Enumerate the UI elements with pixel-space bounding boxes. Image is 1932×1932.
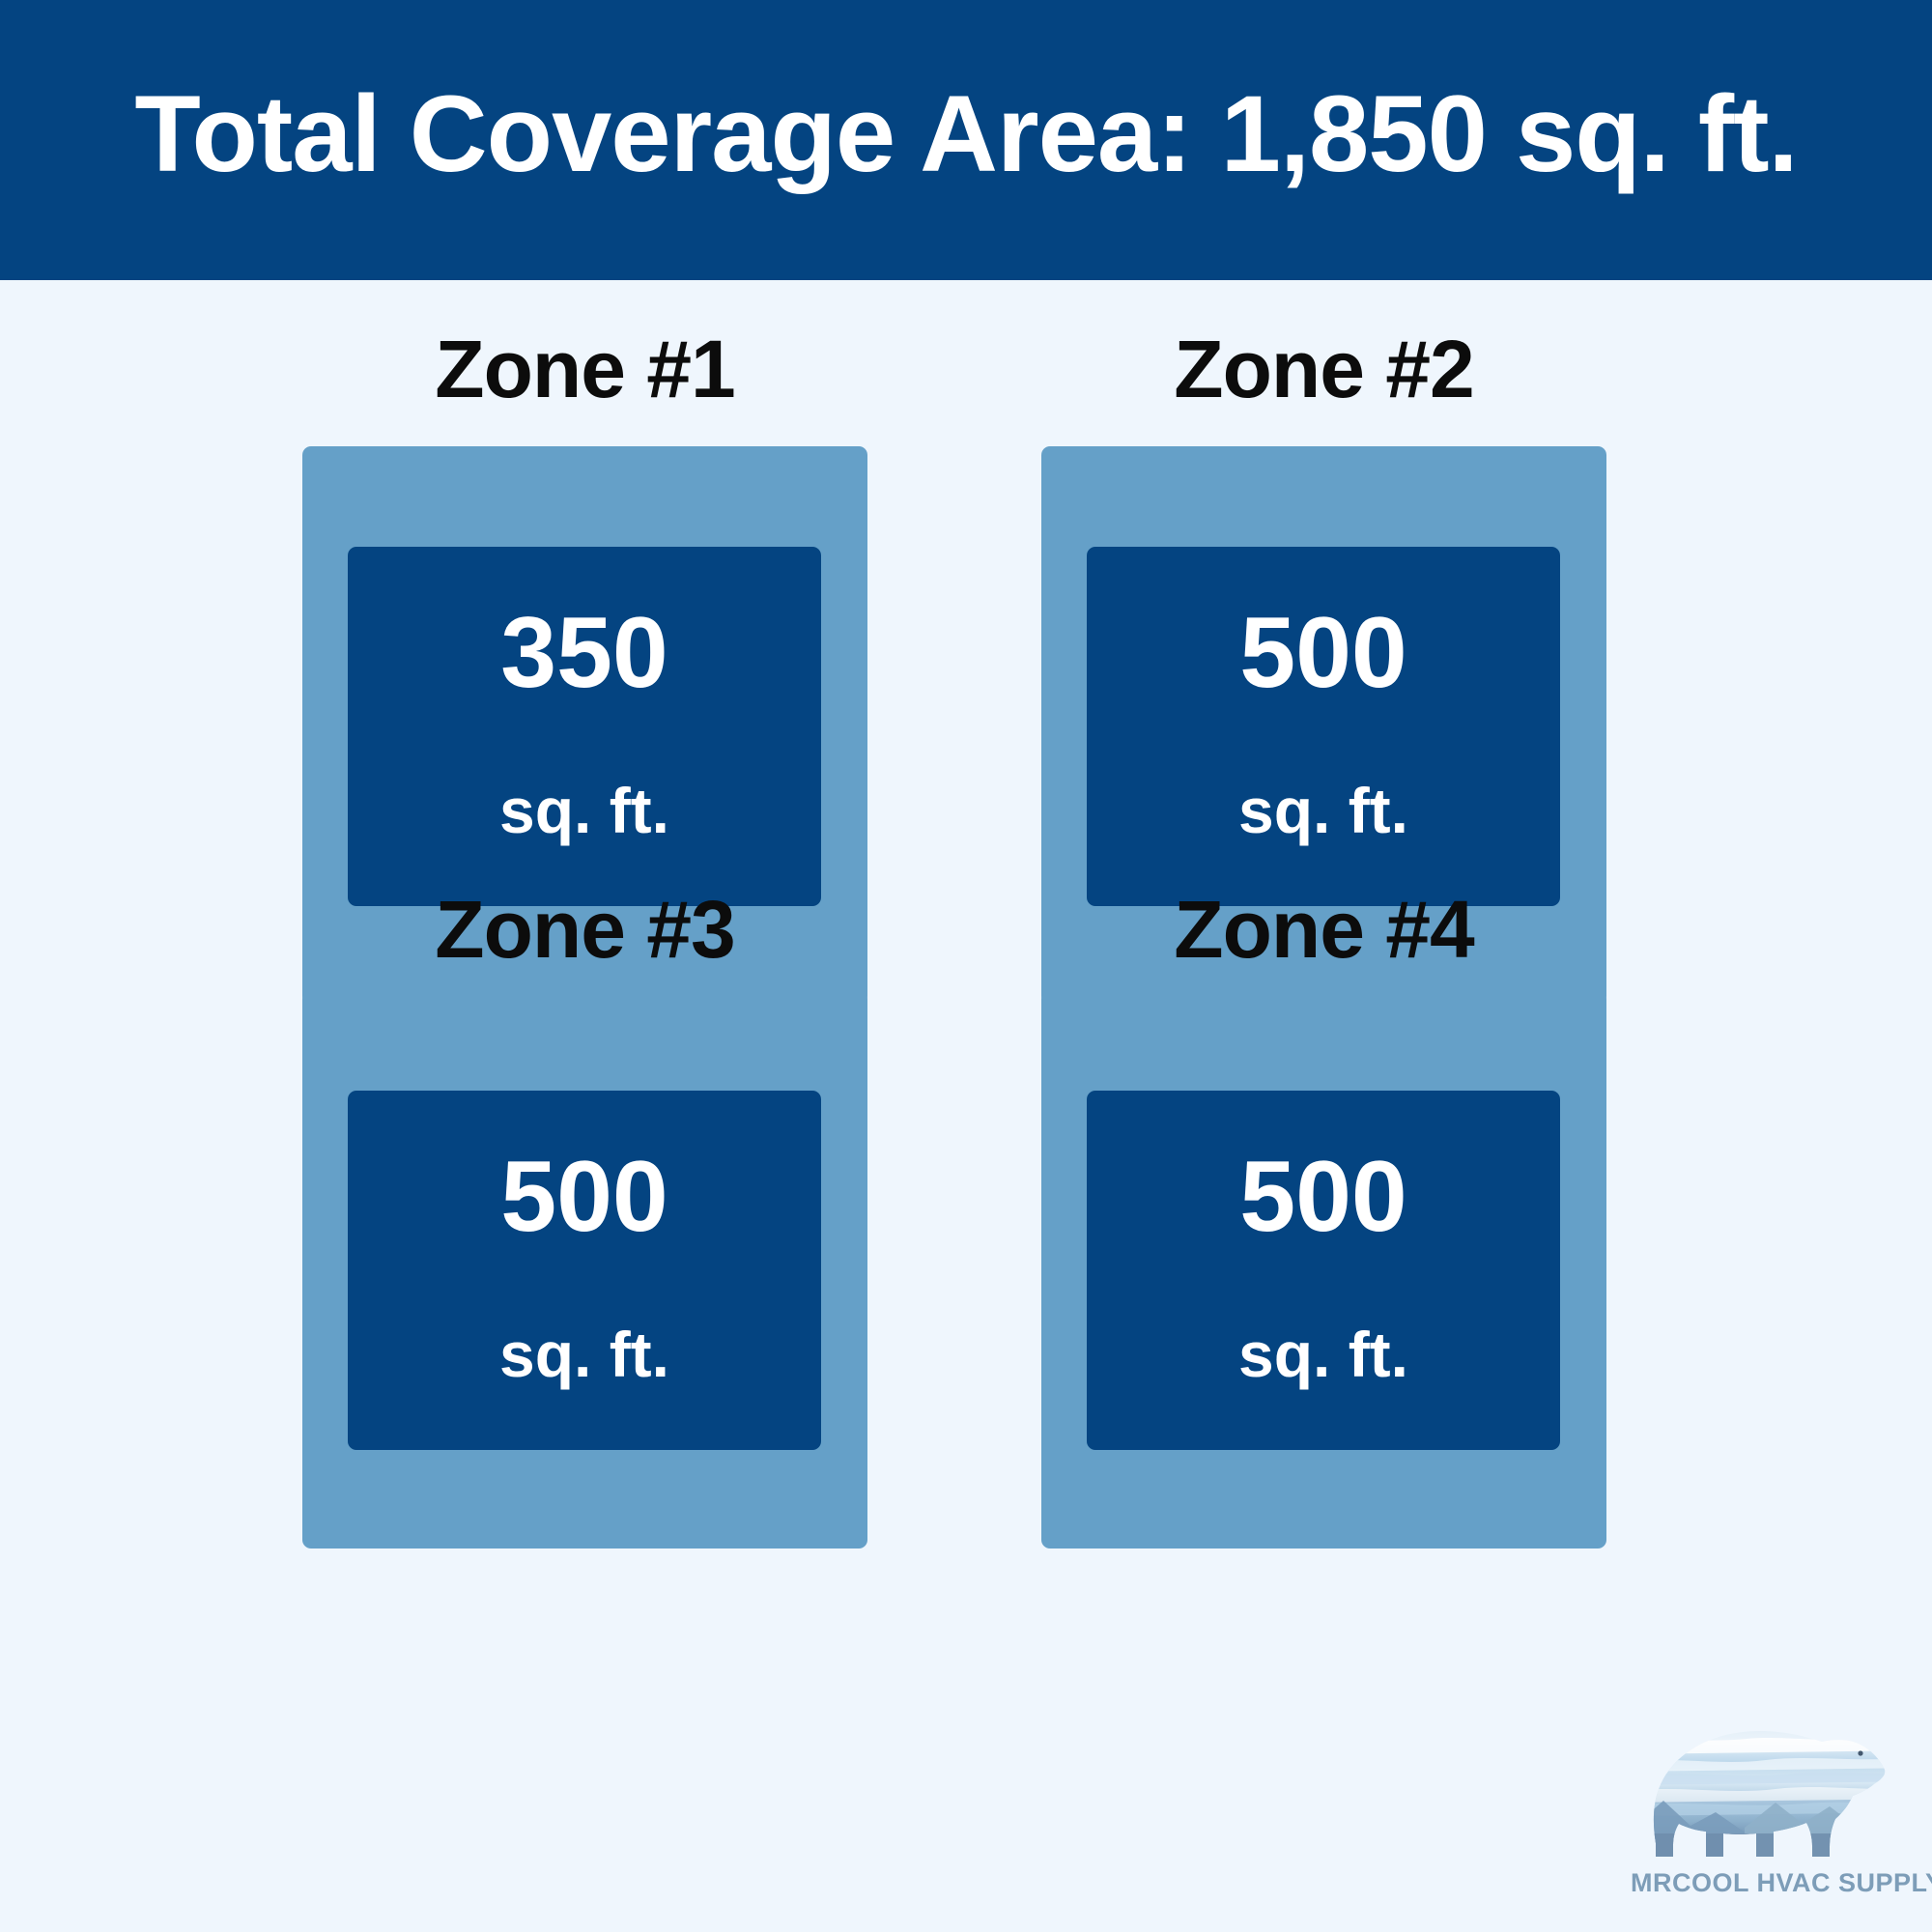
zone-unit-4: sq. ft. <box>1238 1322 1408 1386</box>
zone-value-4: 500 <box>1239 1147 1407 1247</box>
page-title: Total Coverage Area: 1,850 sq. ft. <box>134 80 1797 188</box>
zone-label-2: Zone #2 <box>1041 292 1606 446</box>
header-banner: Total Coverage Area: 1,850 sq. ft. <box>0 0 1932 280</box>
zone-label-4: Zone #4 <box>1041 869 1606 990</box>
zone-card-3: 500 sq. ft. <box>302 990 867 1548</box>
zone-grid: Zone #1 350 sq. ft. Zone #2 500 sq. ft. … <box>0 280 1932 1932</box>
zone-label-1: Zone #1 <box>302 292 867 446</box>
zone-unit-2: sq. ft. <box>1238 779 1408 842</box>
zone-value-box-3: 500 sq. ft. <box>348 1091 821 1450</box>
zone-label-3: Zone #3 <box>302 869 867 990</box>
brand-logo: MRCOOL HVAC SUPPLY <box>1631 1712 1920 1919</box>
zone-cell-3: Zone #3 500 sq. ft. <box>302 869 867 1548</box>
zone-value-2: 500 <box>1239 603 1407 703</box>
zone-value-1: 350 <box>500 603 668 703</box>
brand-name: MRCOOL HVAC SUPPLY <box>1631 1868 1920 1898</box>
zone-value-box-2: 500 sq. ft. <box>1087 547 1560 906</box>
zone-unit-3: sq. ft. <box>499 1322 669 1386</box>
zone-value-box-1: 350 sq. ft. <box>348 547 821 906</box>
zone-card-4: 500 sq. ft. <box>1041 990 1606 1548</box>
zone-cell-4: Zone #4 500 sq. ft. <box>1041 869 1606 1548</box>
zone-value-box-4: 500 sq. ft. <box>1087 1091 1560 1450</box>
zone-value-3: 500 <box>500 1147 668 1247</box>
polar-bear-icon <box>1631 1712 1920 1866</box>
zone-unit-1: sq. ft. <box>499 779 669 842</box>
